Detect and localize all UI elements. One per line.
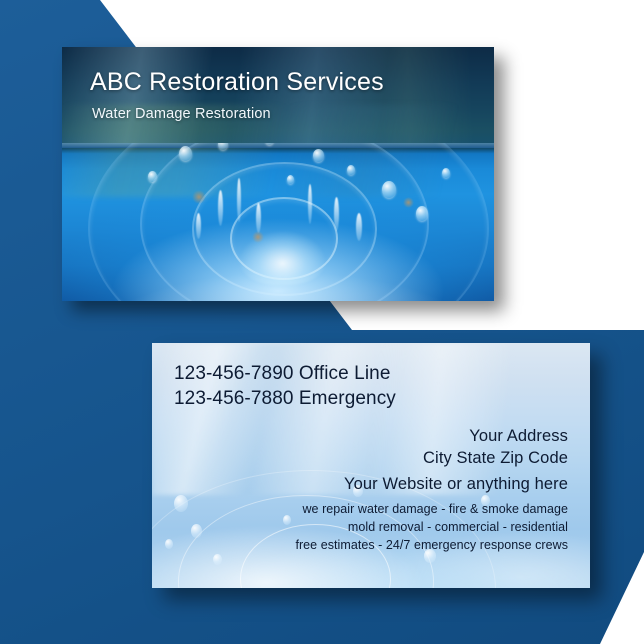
- phone-emergency: 123-456-7880 Emergency: [174, 386, 396, 411]
- amber-highlight: [192, 190, 206, 204]
- splash-spike: [196, 213, 201, 239]
- business-card-mockup: ABC Restoration Services Water Damage Re…: [0, 0, 644, 644]
- business-card-back[interactable]: 123-456-7890 Office Line 123-456-7880 Em…: [152, 343, 590, 588]
- phone-numbers: 123-456-7890 Office Line 123-456-7880 Em…: [174, 361, 396, 411]
- website-line: Your Website or anything here: [344, 475, 568, 494]
- splash-spike: [218, 190, 223, 226]
- water-droplet: [179, 146, 192, 161]
- front-card-ripples: [62, 143, 494, 301]
- phone-office: 123-456-7890 Office Line: [174, 361, 396, 386]
- amber-highlight: [403, 197, 414, 208]
- service-line: mold removal - commercial - residential: [295, 518, 568, 536]
- company-name: ABC Restoration Services: [90, 69, 384, 97]
- services-list: we repair water damage - fire & smoke da…: [295, 500, 568, 554]
- address-line-1: Your Address: [423, 425, 568, 447]
- front-card-text-block: ABC Restoration Services Water Damage Re…: [90, 69, 384, 122]
- service-line: we repair water damage - fire & smoke da…: [295, 500, 568, 518]
- back-card-text-block: 123-456-7890 Office Line 123-456-7880 Em…: [152, 343, 590, 588]
- company-tagline: Water Damage Restoration: [92, 106, 384, 122]
- business-card-front[interactable]: ABC Restoration Services Water Damage Re…: [62, 47, 494, 301]
- address-line-2: City State Zip Code: [423, 447, 568, 469]
- splash-spike: [356, 213, 362, 241]
- water-droplet: [382, 181, 396, 198]
- service-line: free estimates - 24/7 emergency response…: [295, 536, 568, 554]
- splash-spike: [237, 178, 241, 222]
- address-block: Your Address City State Zip Code: [423, 425, 568, 469]
- water-droplet: [287, 175, 294, 184]
- water-droplet: [313, 149, 324, 162]
